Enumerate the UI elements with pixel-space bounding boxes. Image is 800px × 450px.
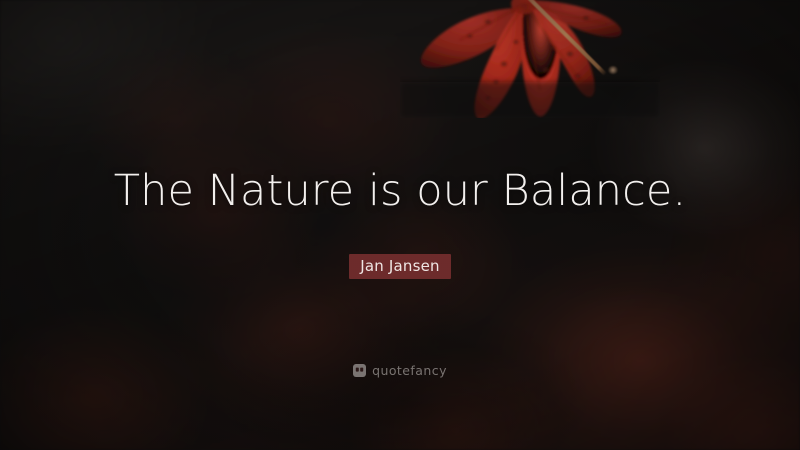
quotefancy-watermark: quotefancy <box>0 363 800 378</box>
quote-poster: The Nature is our Balance. Jan Jansen qu… <box>0 0 800 450</box>
vignette-overlay <box>0 0 800 450</box>
quote-text: The Nature is our Balance. <box>0 166 800 217</box>
author-name-badge: Jan Jansen <box>349 254 451 279</box>
watermark-label: quotefancy <box>372 363 447 378</box>
author-attribution: Jan Jansen <box>0 254 800 279</box>
quote-mark-icon <box>353 364 366 377</box>
